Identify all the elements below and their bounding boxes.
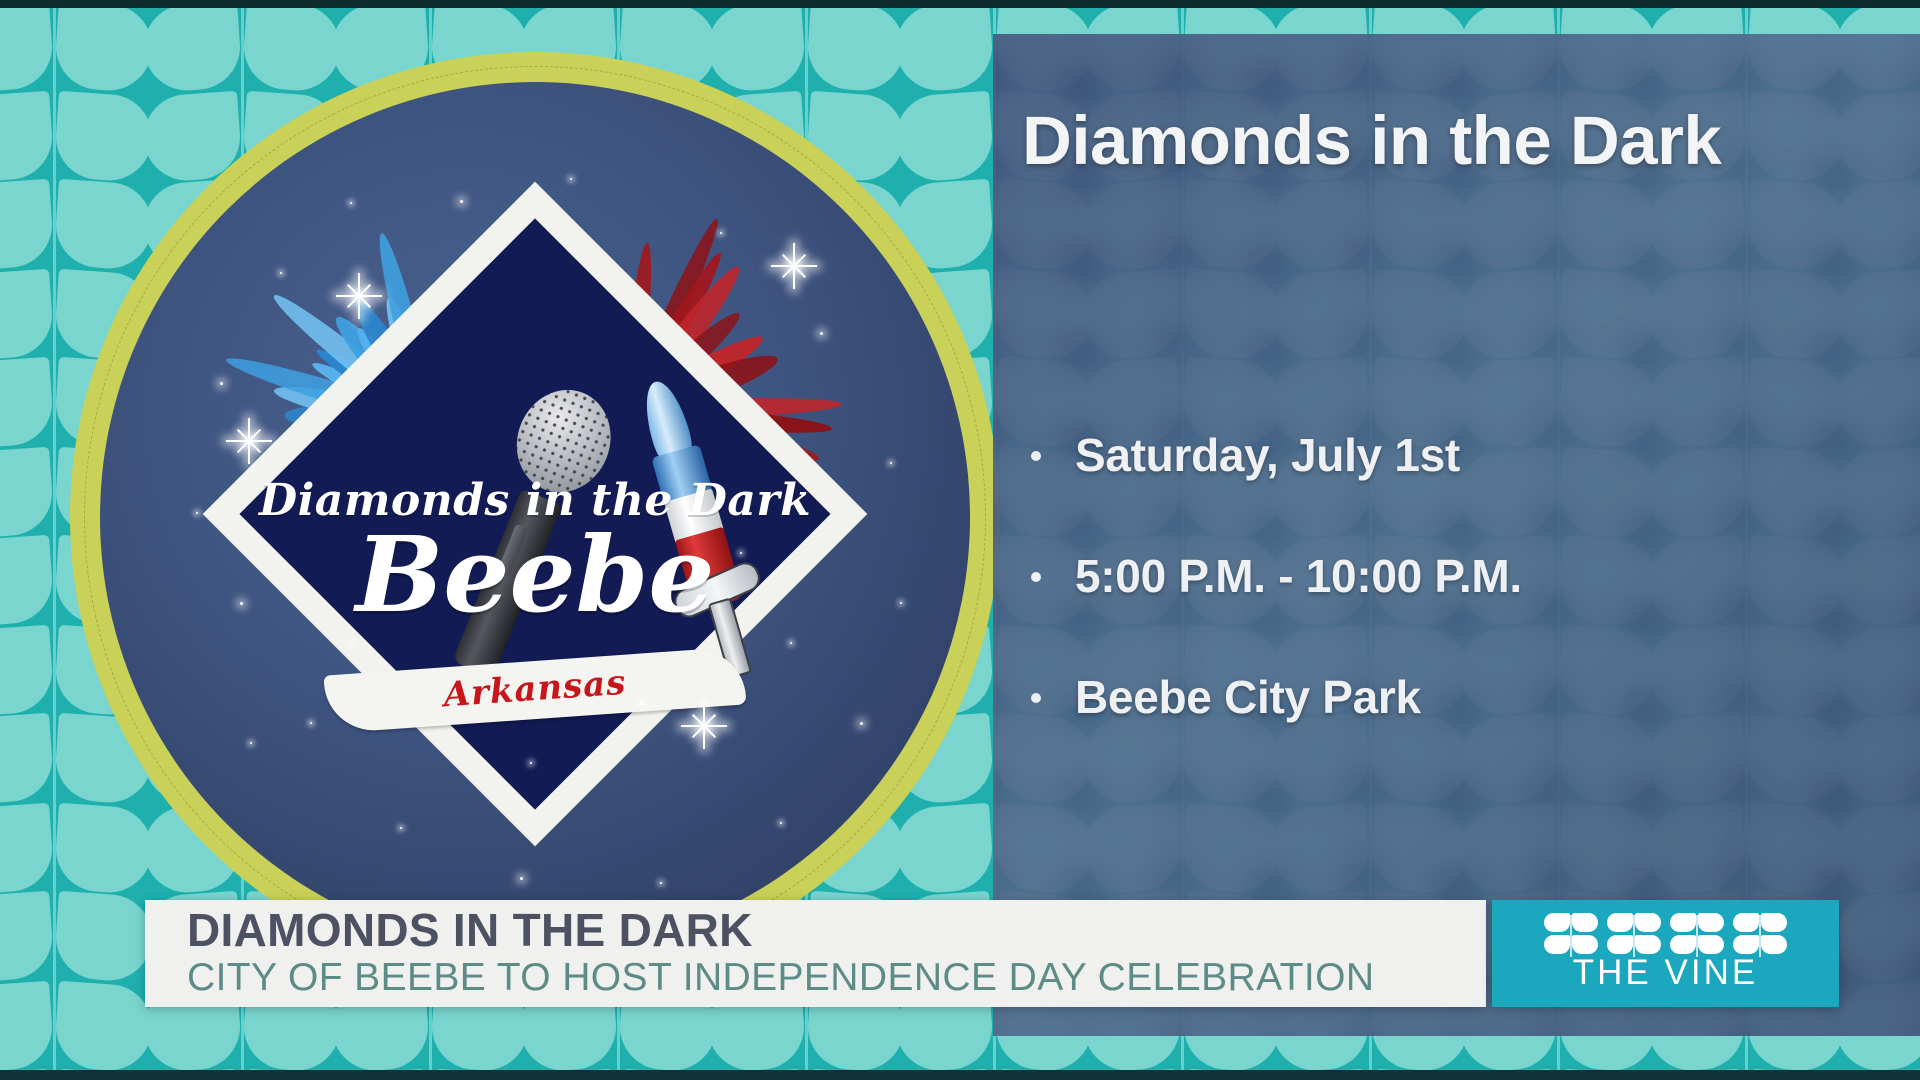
event-logo-disc: Diamonds in the Dark Beebe Arkansas (70, 52, 1000, 982)
vine-leaf-motif-group (1492, 913, 1839, 957)
panel-bullet-label: 5:00 P.M. - 10:00 P.M. (1075, 550, 1522, 602)
panel-bullet-label: Beebe City Park (1075, 671, 1421, 723)
panel-detail-list: Saturday, July 1st5:00 P.M. - 10:00 P.M.… (1023, 428, 1893, 791)
vine-leaf-icon (1607, 913, 1661, 957)
station-logo: THE VINE (1492, 900, 1839, 1007)
panel-title: Diamonds in the Dark (1022, 106, 1882, 175)
sparkle-star-icon (790, 262, 798, 270)
info-panel: Diamonds in the Dark Saturday, July 1st5… (993, 34, 1920, 1036)
bullet-dot-icon (1031, 693, 1041, 703)
bullet-dot-icon (1031, 451, 1041, 461)
panel-bullet-item: Beebe City Park (1023, 670, 1893, 724)
sparkle-star-icon (245, 437, 253, 445)
vine-leaf-icon (1670, 913, 1724, 957)
vine-leaf-icon (1544, 913, 1598, 957)
broadcast-graphic: Diamonds in the Dark Beebe Arkansas Diam… (0, 0, 1920, 1080)
letterbox-top (0, 0, 1920, 8)
letterbox-bottom (0, 1070, 1920, 1080)
panel-bullet-label: Saturday, July 1st (1075, 429, 1460, 481)
lower-third-banner: DIAMONDS IN THE DARK CITY OF BEEBE TO HO… (145, 900, 1486, 1007)
lower-third-headline: DIAMONDS IN THE DARK (187, 907, 753, 953)
bullet-dot-icon (1031, 572, 1041, 582)
sparkle-star-icon (355, 292, 363, 300)
panel-bullet-item: Saturday, July 1st (1023, 428, 1893, 482)
station-logo-name: THE VINE (1492, 953, 1839, 993)
lower-third-subhead: CITY OF BEEBE TO HOST INDEPENDENCE DAY C… (187, 958, 1374, 997)
vine-leaf-icon (1733, 913, 1787, 957)
sparkle-star-icon (700, 722, 708, 730)
panel-bullet-item: 5:00 P.M. - 10:00 P.M. (1023, 549, 1893, 603)
logo-night-sky: Diamonds in the Dark Beebe Arkansas (100, 82, 970, 952)
